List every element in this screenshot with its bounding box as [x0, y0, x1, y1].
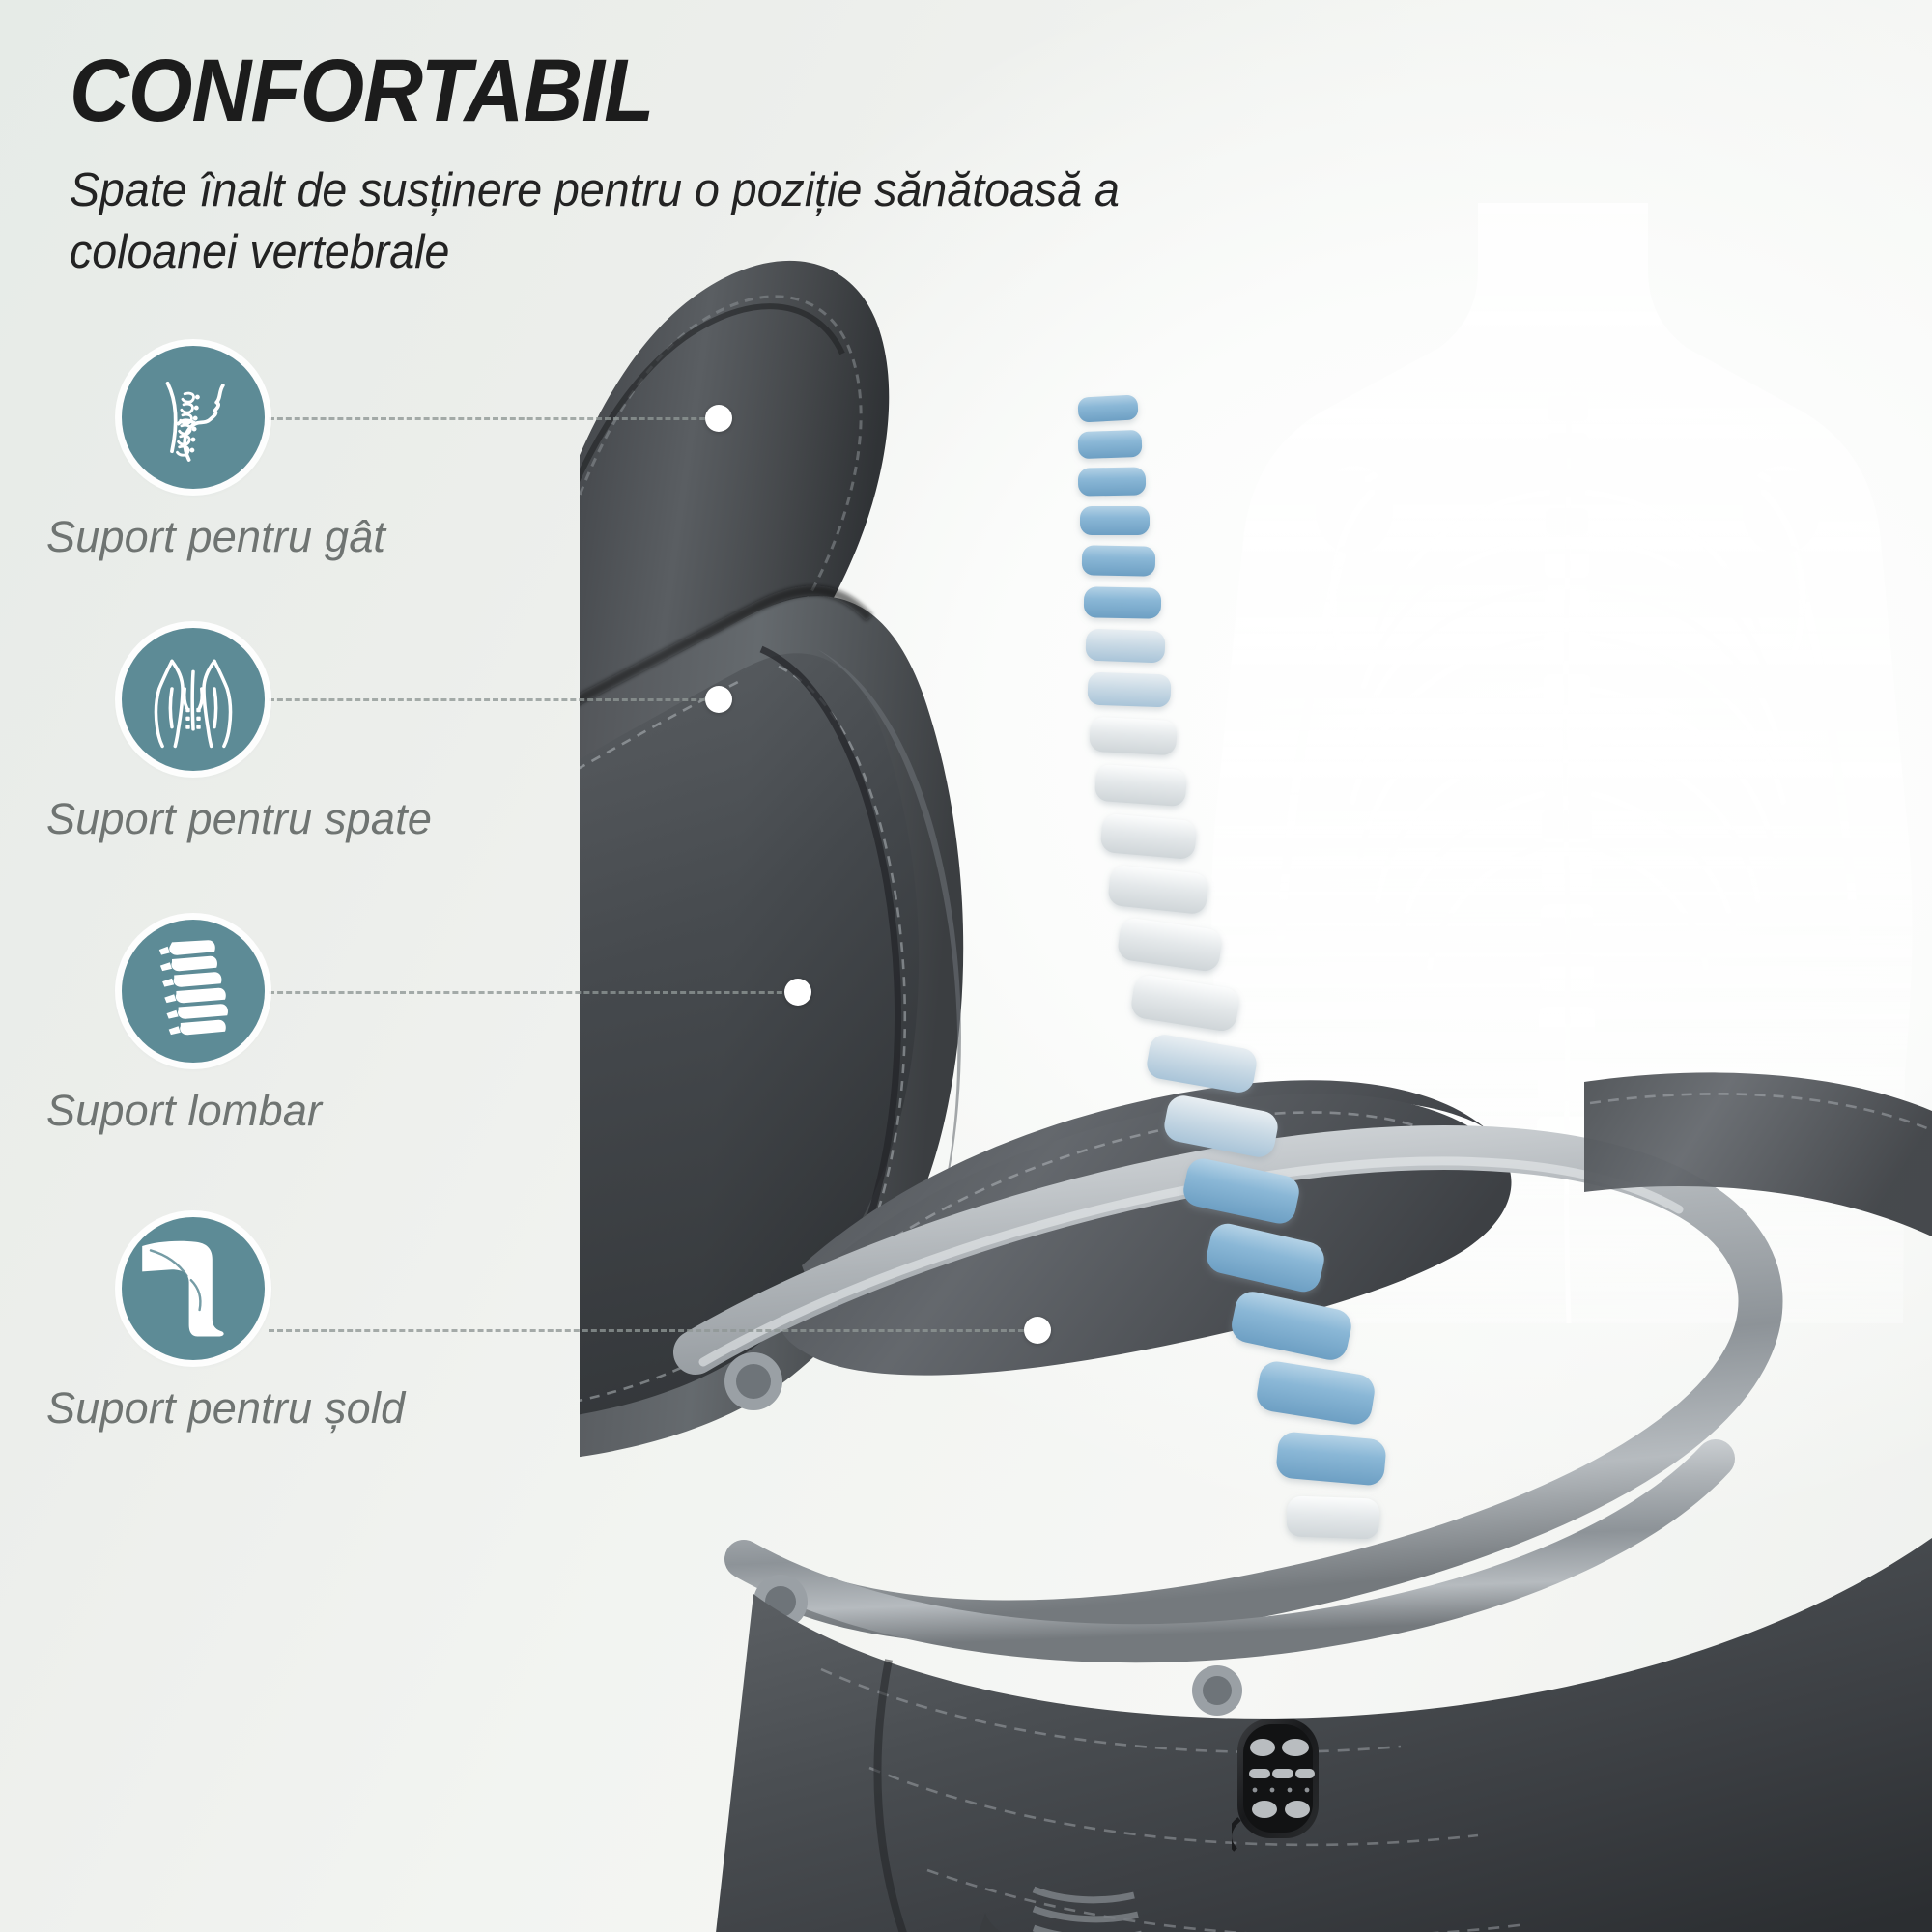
power-button: [1250, 1739, 1275, 1756]
feature-label-back: Suport pentru spate: [46, 794, 432, 844]
marker-dot-back: [705, 686, 732, 713]
connector-line-lumbar: [269, 991, 800, 994]
page-subtitle: Spate înalt de susținere pentru o poziți…: [70, 159, 1152, 284]
mode-button: [1285, 1801, 1310, 1818]
header-block: CONFORTABIL Spate înalt de susținere pen…: [70, 44, 1229, 284]
spine-column-graphic: [1043, 386, 1449, 1575]
back-torso-spine-icon: [122, 628, 265, 771]
play-pause-button: [1252, 1801, 1277, 1818]
thigh-button: [1249, 1769, 1270, 1778]
connector-line-back: [269, 698, 723, 701]
massage-remote-control[interactable]: [1232, 1715, 1338, 1860]
infographic-canvas: CONFORTABIL Spate înalt de susținere pen…: [0, 0, 1932, 1932]
neck-spine-profile-icon: [122, 346, 265, 489]
lumbar-button: [1272, 1769, 1293, 1778]
marker-dot-lumbar: [784, 979, 811, 1006]
connector-line-hip: [269, 1329, 1041, 1332]
marker-dot-hip: [1024, 1317, 1051, 1344]
feature-label-hip: Suport pentru șold: [46, 1383, 405, 1434]
hip-leg-icon: [122, 1217, 265, 1360]
marker-dot-neck: [705, 405, 732, 432]
feature-label-neck: Suport pentru gât: [46, 512, 385, 562]
auto-button: [1282, 1739, 1309, 1756]
connector-line-neck: [269, 417, 723, 420]
lumbar-vertebrae-icon: [122, 920, 265, 1063]
page-title: CONFORTABIL: [70, 44, 1148, 138]
back-button: [1295, 1769, 1315, 1778]
feature-label-lumbar: Suport lombar: [46, 1086, 322, 1136]
